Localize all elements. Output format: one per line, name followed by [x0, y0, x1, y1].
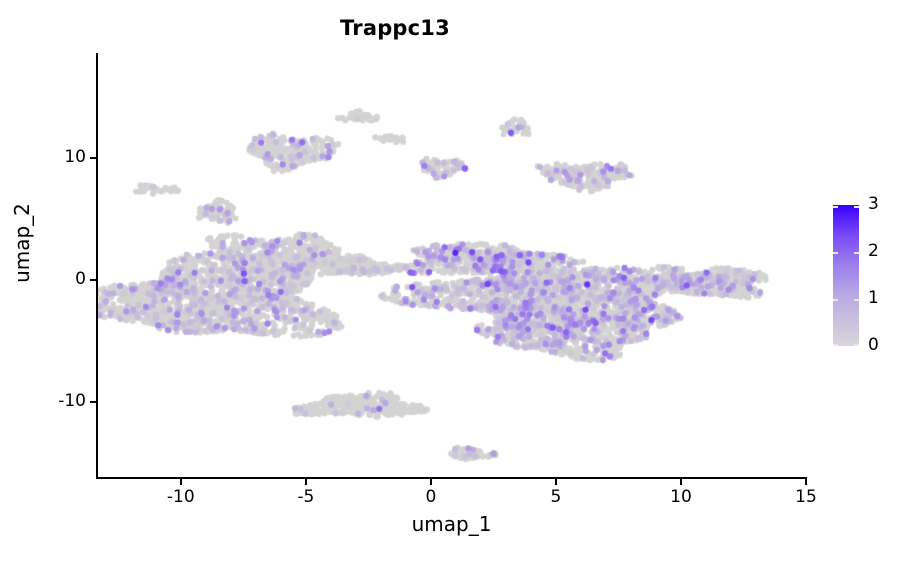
x-axis-label: umap_1: [97, 512, 806, 536]
colorbar-tick-mark: [833, 299, 838, 301]
y-tick-mark: [90, 401, 96, 403]
scatter-plot-canvas: [97, 53, 806, 478]
x-axis-spine: [96, 477, 807, 479]
page-title: Trappc13: [0, 16, 790, 40]
colorbar-tick-mark: [854, 344, 859, 346]
y-axis-label: umap_2: [10, 163, 34, 323]
x-tick-mark: [555, 479, 557, 485]
x-tick-label: -10: [151, 487, 211, 507]
x-tick-label: 0: [401, 487, 461, 507]
colorbar-tick-label: 2: [868, 241, 879, 261]
x-tick-label: -5: [276, 487, 336, 507]
colorbar-tick-mark: [854, 299, 859, 301]
colorbar-tick-label: 3: [868, 194, 879, 214]
y-tick-label: -10: [16, 391, 86, 411]
colorbar-tick-mark: [854, 206, 859, 208]
x-tick-label: 5: [526, 487, 586, 507]
x-tick-mark: [180, 479, 182, 485]
y-axis-spine: [96, 53, 98, 479]
umap-feature-plot: Trappc13 -10-5051015 -10010 umap_1 umap_…: [0, 0, 911, 562]
x-tick-mark: [305, 479, 307, 485]
colorbar-tick-mark: [854, 252, 859, 254]
colorbar-tick-mark: [833, 206, 838, 208]
x-tick-label: 15: [776, 487, 836, 507]
colorbar-gradient: [833, 205, 859, 346]
y-tick-mark: [90, 279, 96, 281]
x-tick-label: 10: [651, 487, 711, 507]
colorbar-tick-label: 1: [868, 288, 879, 308]
y-tick-mark: [90, 157, 96, 159]
x-tick-mark: [430, 479, 432, 485]
colorbar-tick-mark: [833, 252, 838, 254]
colorbar-tick-mark: [833, 344, 838, 346]
colorbar: [833, 205, 859, 346]
colorbar-tick-label: 0: [868, 335, 879, 355]
x-tick-mark: [680, 479, 682, 485]
x-tick-mark: [805, 479, 807, 485]
